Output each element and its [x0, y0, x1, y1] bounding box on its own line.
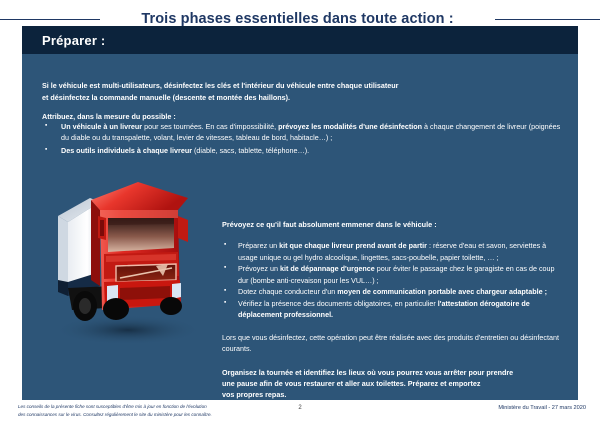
paragraph-bold-line-2: une pause afin de vous restaurer et alle… [222, 378, 564, 389]
list-item-text: Un véhicule à un livreur pour ses tourné… [61, 121, 562, 144]
truck-shadow [54, 315, 202, 345]
footer-note-line-2: des connaissances sur le virus. Consulte… [18, 411, 268, 419]
paragraph-bold-line-3: vos propres repas. [222, 389, 564, 400]
bullet-bold: kit que chaque livreur prend avant de pa… [279, 241, 427, 250]
list-item: ▪ Vérifiez la présence des documents obl… [222, 298, 564, 320]
left-bullet-list: ▪ Un véhicule à un livreur pour ses tour… [42, 121, 562, 157]
paragraph-bold-line-1: Organisez la tournée et identifiez les l… [222, 367, 564, 378]
footer-credit: Ministère du Travail - 27 mars 2020 [498, 405, 586, 411]
right-bullet-list: ▪ Préparez un kit que chaque livreur pre… [222, 240, 564, 320]
title-rule-right [495, 19, 600, 20]
intro-block: Si le véhicule est multi-utilisateurs, d… [42, 80, 558, 123]
bullet-bold-2: prévoyez les modalités d'une désinfectio… [278, 122, 422, 131]
bullet-marker: ▪ [222, 240, 238, 250]
list-item: ▪ Dotez chaque conducteur d'un moyen de … [222, 286, 564, 297]
intro-line-1: Si le véhicule est multi-utilisateurs, d… [42, 80, 558, 92]
panel-header: Préparer : [22, 26, 578, 54]
bullet-pre: Prévoyez un [238, 264, 280, 273]
right-column-heading: Prévoyez ce qu'il faut absolument emmene… [222, 219, 564, 230]
list-item-text: Vérifiez la présence des documents oblig… [238, 298, 564, 320]
delivery-truck-illustration [28, 154, 218, 354]
bullet-bold: kit de dépannage d'urgence [280, 264, 375, 273]
intro-spacer [42, 103, 558, 111]
bullet-marker: ▪ [42, 121, 61, 131]
panel-header-label: Préparer : [42, 33, 105, 48]
title-rule-left [0, 19, 100, 20]
right-column-paragraph-normal: Lors que vous désinfectez, cette opérati… [222, 332, 564, 354]
list-item: ▪ Un véhicule à un livreur pour ses tour… [42, 121, 562, 144]
list-item-text: Dotez chaque conducteur d'un moyen de co… [238, 286, 564, 297]
paragraph-text: Lors que vous désinfectez, cette opérati… [222, 332, 564, 354]
content-panel: Préparer : Si le véhicule est multi-util… [22, 26, 578, 400]
intro-line-2: et désinfectez la commande manuelle (des… [42, 92, 558, 104]
page-footer: Les conseils de la présente fiche sont s… [0, 403, 600, 423]
list-item: ▪ Prévoyez un kit de dépannage d'urgence… [222, 263, 564, 285]
bullet-bold-1: Un véhicule à un livreur [61, 122, 142, 131]
bullet-pre: Préparez un [238, 241, 279, 250]
list-item-text: Prévoyez un kit de dépannage d'urgence p… [238, 263, 564, 285]
bullet-pre: Vérifiez la présence des documents oblig… [238, 299, 438, 308]
bullet-bold: moyen de communication portable avec cha… [337, 287, 547, 296]
list-item: ▪ Préparez un kit que chaque livreur pre… [222, 240, 564, 262]
panel-body: Si le véhicule est multi-utilisateurs, d… [22, 54, 578, 400]
bullet-marker: ▪ [222, 263, 238, 273]
right-column-paragraph-bold: Organisez la tournée et identifiez les l… [222, 367, 564, 401]
bullet-text-1: pour ses tournées. En cas d'impossibilit… [142, 122, 278, 131]
page-title: Trois phases essentielles dans toute act… [116, 11, 479, 27]
bullet-marker: ▪ [222, 298, 238, 308]
bullet-pre: Dotez chaque conducteur d'un [238, 287, 337, 296]
right-column: Prévoyez ce qu'il faut absolument emmene… [222, 219, 564, 401]
bullet-marker: ▪ [222, 286, 238, 296]
list-item-text: Préparez un kit que chaque livreur prend… [238, 240, 564, 262]
